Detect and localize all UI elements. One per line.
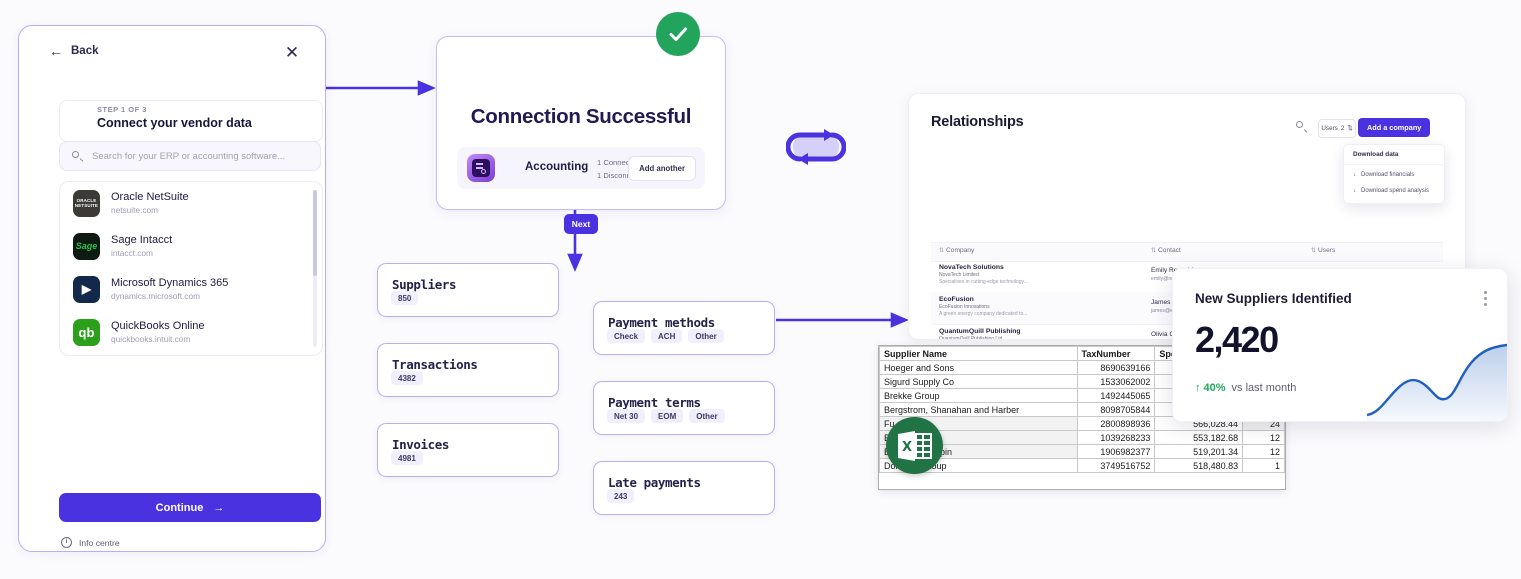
col-tax-number: TaxNumber xyxy=(1077,347,1155,361)
step-counter: STEP 1 OF 3 xyxy=(97,105,147,114)
integration-row: Accounting 1 Connected 1 Disconnected Ad… xyxy=(457,147,705,189)
logo-text: ▶ xyxy=(82,283,91,296)
chip: ACH xyxy=(651,329,682,343)
add-another-button[interactable]: Add another xyxy=(628,156,696,181)
list-item[interactable]: Sage Sage Intacct intacct.com xyxy=(60,225,322,268)
chevron-down-icon: ⇅ xyxy=(1347,125,1352,132)
erp-connector-panel: ← Back ✕ STEP 1 OF 3 Connect your vendor… xyxy=(18,25,326,552)
connection-title: Connection Successful xyxy=(437,105,725,129)
search-placeholder: Search for your ERP or accounting softwa… xyxy=(92,151,285,162)
kpi-delta-value: 40% xyxy=(1204,382,1226,394)
download-data-menu: Download data ↓ Download financials ↓ Do… xyxy=(1343,144,1445,204)
chip: 243 xyxy=(607,489,634,503)
sparkline-chart xyxy=(1367,341,1507,421)
column-header-company[interactable]: ⇅ Company xyxy=(939,247,974,254)
cell-tax: 2800898936 xyxy=(1077,417,1155,431)
cell-extra: 1 xyxy=(1243,459,1285,473)
kpi-delta-up: ↑ 40% xyxy=(1195,382,1226,394)
cell-tax: 1492445065 xyxy=(1077,389,1155,403)
table-header: ⇅ Company ⇅ Contact ⇅ Users ⇅ Status xyxy=(931,242,1443,262)
chip: Other xyxy=(688,329,723,343)
sync-loop-icon xyxy=(786,122,846,172)
card-title: Invoices xyxy=(392,437,449,452)
back-label: Back xyxy=(71,45,99,57)
continue-label: Continue xyxy=(156,502,204,514)
table-row[interactable]: Donnelly Group 3749516752 518,480.83 1 xyxy=(880,459,1285,473)
cell-extra: 12 xyxy=(1243,445,1285,459)
cell-tax: 1533062002 xyxy=(1077,375,1155,389)
card-chips: Check ACH Other xyxy=(607,329,724,343)
row-legal-name: QuantumQuill Publishing Ltd xyxy=(939,336,1002,340)
download-menu-header: Download data xyxy=(1353,151,1398,158)
erp-panel-topbar: ← Back ✕ xyxy=(19,26,325,84)
arrow-up-icon: ↑ xyxy=(1195,382,1201,394)
cell-tax: 3749516752 xyxy=(1077,459,1155,473)
step-card: STEP 1 OF 3 Connect your vendor data xyxy=(59,100,323,142)
microsoft-dynamics-logo-icon: ▶ xyxy=(73,276,100,303)
connection-successful-card: Connection Successful Accounting 1 Conne… xyxy=(436,36,726,210)
cell-tax: 8098705844 xyxy=(1077,403,1155,417)
add-company-button[interactable]: Add a company xyxy=(1358,118,1430,137)
list-item-url: intacct.com xyxy=(111,248,172,259)
search-icon[interactable] xyxy=(1296,121,1310,135)
cell-tax: 1906982377 xyxy=(1077,445,1155,459)
chip: EOM xyxy=(651,409,683,423)
cell-supplier-name: Bergstrom, Shanahan and Harber xyxy=(880,403,1078,417)
close-icon[interactable]: ✕ xyxy=(281,42,303,64)
col-supplier-name: Supplier Name xyxy=(880,347,1078,361)
divider xyxy=(1344,164,1444,165)
column-header-users[interactable]: ⇅ Users xyxy=(1311,247,1335,254)
scrollbar-thumb[interactable] xyxy=(313,190,317,276)
kpi-card-new-suppliers: New Suppliers Identified 2,420 ↑ 40% vs … xyxy=(1172,268,1508,422)
kpi-delta-caption: vs last month xyxy=(1232,382,1297,394)
list-item[interactable]: ▶ Microsoft Dynamics 365 dynamics.micros… xyxy=(60,268,322,311)
data-card-payment-methods: Payment methods Check ACH Other xyxy=(593,301,775,355)
sort-icon: ⇅ xyxy=(939,247,943,254)
chip: 4382 xyxy=(391,371,423,385)
card-chips: 4382 xyxy=(391,371,423,385)
row-company: EcoFusion xyxy=(939,296,974,303)
row-legal-name: EcoFusion Innovations xyxy=(939,304,990,310)
data-card-suppliers: Suppliers 850 xyxy=(377,263,559,317)
card-chips: Net 30 EOM Other xyxy=(607,409,725,423)
chip: Other xyxy=(689,409,724,423)
data-card-payment-terms: Payment terms Net 30 EOM Other xyxy=(593,381,775,435)
chip: 4981 xyxy=(391,451,423,465)
continue-button[interactable]: Continue → xyxy=(59,493,321,522)
logo-text: ORACLE NETSUITE xyxy=(73,199,100,208)
card-chips: 850 xyxy=(391,291,418,305)
chip: 850 xyxy=(391,291,418,305)
cell-spend: 553,182.68 xyxy=(1155,431,1243,445)
cell-supplier-name: Brekke Group xyxy=(880,389,1078,403)
kpi-title: New Suppliers Identified xyxy=(1195,291,1352,306)
oracle-netsuite-logo-icon: ORACLE NETSUITE xyxy=(73,190,100,217)
search-icon xyxy=(72,151,83,162)
row-legal-name: NovaTech Limited xyxy=(939,272,979,278)
cell-tax: 8690639166 xyxy=(1077,361,1155,375)
data-card-transactions: Transactions 4382 xyxy=(377,343,559,397)
column-header-contact[interactable]: ⇅ Contact xyxy=(1151,247,1181,254)
users-filter-count: 2 xyxy=(1341,125,1345,132)
kpi-value: 2,420 xyxy=(1195,319,1278,361)
list-item-url: dynamics.microsoft.com xyxy=(111,291,228,302)
svg-text:X: X xyxy=(902,440,912,455)
data-card-invoices: Invoices 4981 xyxy=(377,423,559,477)
chip: Check xyxy=(607,329,645,343)
row-description: Specialises in cutting-edge technology..… xyxy=(939,279,1028,285)
accounting-logo-icon xyxy=(467,154,495,182)
list-item-name: Sage Intacct xyxy=(111,234,172,248)
info-centre-label: Info centre xyxy=(79,538,120,548)
card-title: Payment terms xyxy=(608,395,701,410)
card-title: Suppliers xyxy=(392,277,456,292)
kebab-menu-icon[interactable] xyxy=(1484,291,1487,309)
next-button[interactable]: Next xyxy=(564,214,598,234)
download-spend-analysis-item[interactable]: ↓ Download spend analysis xyxy=(1353,188,1429,194)
users-filter-chip[interactable]: Users 2 ⇅ xyxy=(1318,119,1356,138)
page-title: Connect your vendor data xyxy=(97,116,252,130)
card-title: Payment methods xyxy=(608,315,715,330)
users-filter-label: Users xyxy=(1321,125,1337,132)
download-icon: ↓ xyxy=(1353,172,1356,178)
list-item[interactable]: ORACLE NETSUITE Oracle NetSuite netsuite… xyxy=(60,182,322,225)
sort-icon: ⇅ xyxy=(1311,247,1315,254)
menu-item-label: Download financials xyxy=(1361,172,1414,178)
chip: Net 30 xyxy=(607,409,645,423)
panel-title: Relationships xyxy=(931,114,1023,130)
download-financials-item[interactable]: ↓ Download financials xyxy=(1353,172,1414,178)
search-input[interactable]: Search for your ERP or accounting softwa… xyxy=(59,141,321,171)
logo-text: qb xyxy=(79,326,95,340)
download-icon: ↓ xyxy=(1353,188,1356,194)
cell-spend: 519,201.34 xyxy=(1155,445,1243,459)
info-icon: i xyxy=(61,537,72,548)
list-item-name: Oracle NetSuite xyxy=(111,191,189,205)
row-company: NovaTech Solutions xyxy=(939,264,1004,271)
card-chips: 243 xyxy=(607,489,634,503)
integration-name: Accounting xyxy=(525,161,588,173)
sage-intacct-logo-icon: Sage xyxy=(73,233,100,260)
quickbooks-logo-icon: qb xyxy=(73,319,100,346)
arrow-left-icon: ← xyxy=(49,44,63,58)
scrollbar[interactable] xyxy=(313,190,317,347)
row-company: QuantumQuill Publishing xyxy=(939,328,1021,335)
cell-supplier-name: Sigurd Supply Co xyxy=(880,375,1078,389)
back-button[interactable]: ← Back xyxy=(49,44,99,58)
cell-supplier-name: Hoeger and Sons xyxy=(880,361,1078,375)
menu-item-label: Download spend analysis xyxy=(1361,188,1429,194)
row-description: A green energy company dedicated to... xyxy=(939,311,1027,317)
column-label: Company xyxy=(946,247,974,254)
cell-extra: 12 xyxy=(1243,431,1285,445)
logo-text: Sage xyxy=(76,242,98,251)
list-item-url: netsuite.com xyxy=(111,205,189,216)
cell-tax: 1039268233 xyxy=(1077,431,1155,445)
cell-spend: 518,480.83 xyxy=(1155,459,1243,473)
list-item-name: Microsoft Dynamics 365 xyxy=(111,277,228,291)
list-item-name: QuickBooks Online xyxy=(111,320,205,334)
arrow-right-icon: → xyxy=(213,502,224,514)
canvas: ← Back ✕ STEP 1 OF 3 Connect your vendor… xyxy=(0,0,1521,579)
card-title: Transactions xyxy=(392,357,478,372)
list-item-url: quickbooks.intuit.com xyxy=(111,334,205,345)
erp-software-list[interactable]: ORACLE NETSUITE Oracle NetSuite netsuite… xyxy=(59,181,323,356)
excel-icon: X xyxy=(886,417,943,474)
list-item[interactable]: qb QuickBooks Online quickbooks.intuit.c… xyxy=(60,311,322,354)
card-chips: 4981 xyxy=(391,451,423,465)
card-title: Late payments xyxy=(608,475,701,490)
check-circle-icon xyxy=(656,12,700,56)
column-label: Users xyxy=(1318,247,1335,254)
sort-icon: ⇅ xyxy=(1151,247,1155,254)
kpi-delta: ↑ 40% vs last month xyxy=(1195,382,1296,394)
info-centre-link[interactable]: i Info centre xyxy=(61,537,120,548)
column-label: Contact xyxy=(1158,247,1181,254)
data-card-late-payments: Late payments 243 xyxy=(593,461,775,515)
